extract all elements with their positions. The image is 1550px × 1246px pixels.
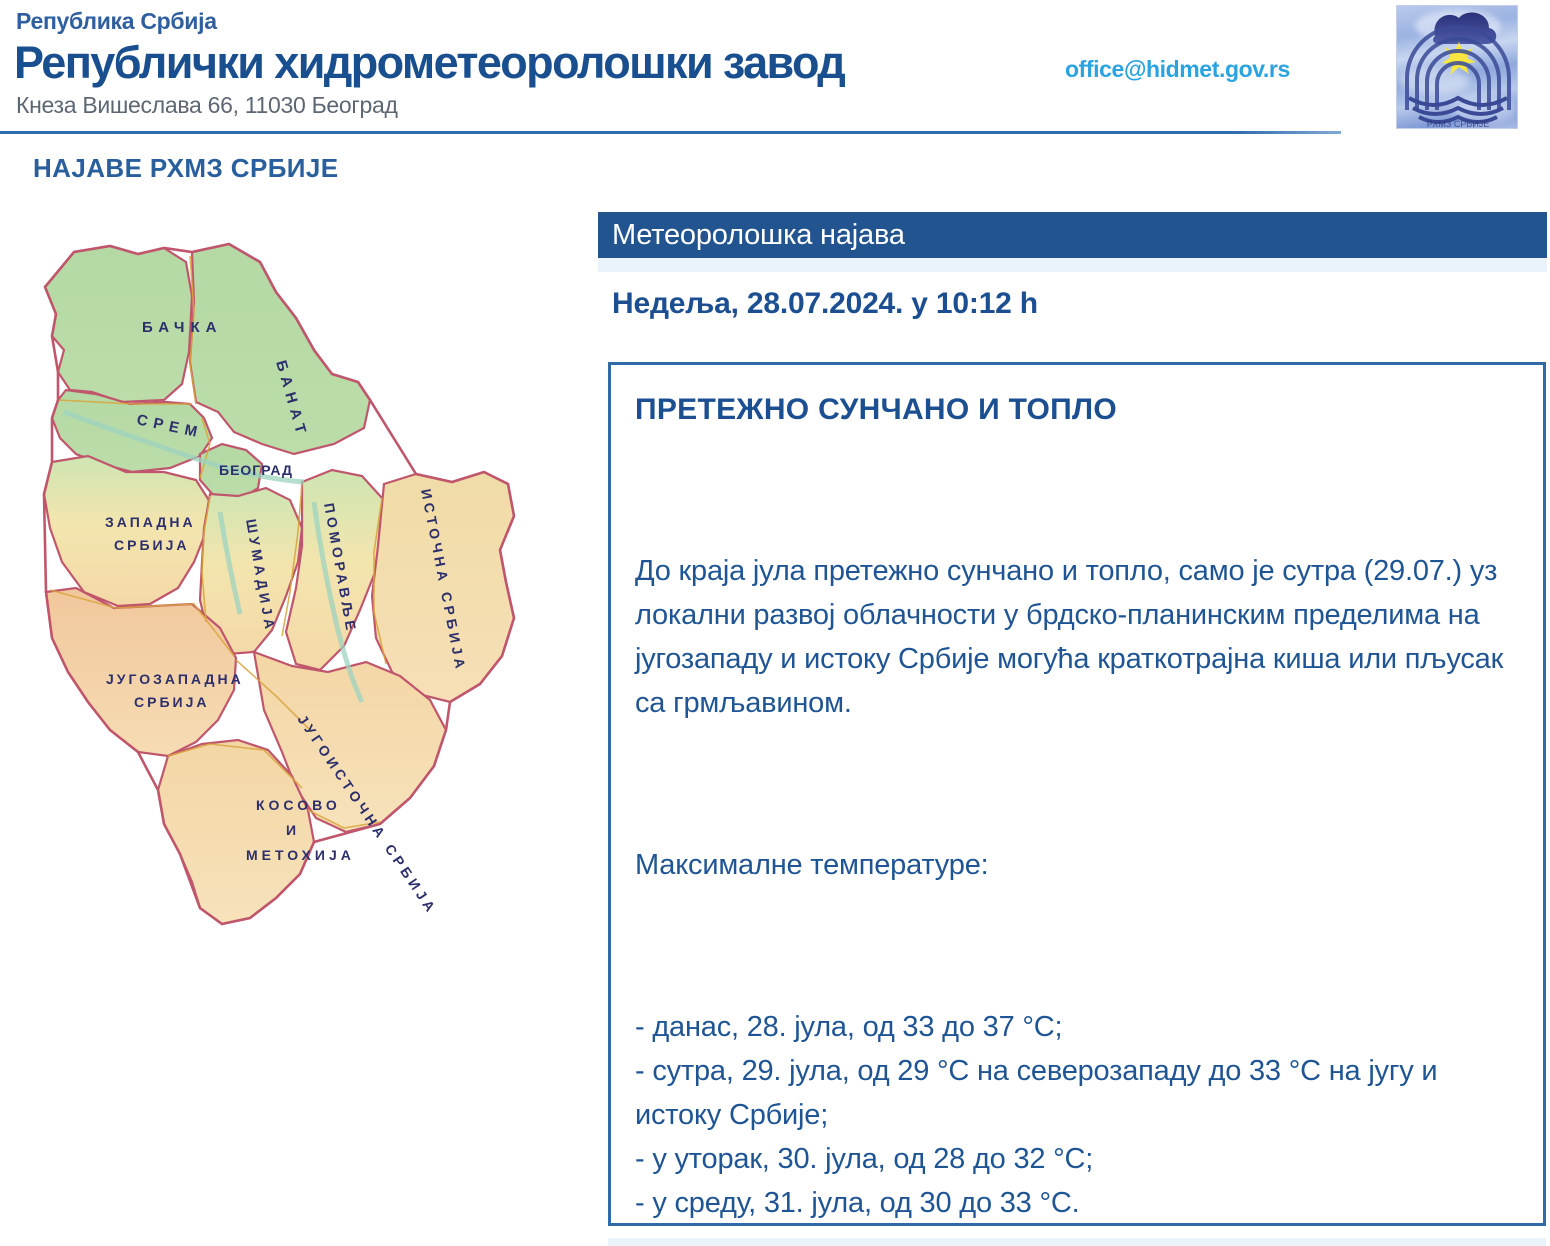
header-country: Република Србија xyxy=(16,8,217,35)
forecast-temps-heading: Максималне температуре: xyxy=(635,843,1525,887)
bar-underline-strip xyxy=(598,258,1547,272)
map-label-14: МЕТОХИЈА xyxy=(246,847,355,863)
header-email-link[interactable]: office@hidmet.gov.rs xyxy=(1065,56,1290,83)
logo-sun-icon xyxy=(1442,42,1476,75)
footer-strip xyxy=(608,1238,1546,1246)
forecast-temps-list: - данас, 28. јула, од 33 до 37 °C; - сут… xyxy=(635,1005,1525,1225)
header-address: Кнеза Вишеслава 66, 11030 Београд xyxy=(16,92,398,119)
page-root: Република Србија Републички хидрометеоро… xyxy=(0,0,1550,1246)
forecast-headline: ПРЕТЕЖНО СУНЧАНО И ТОПЛО xyxy=(635,393,1117,427)
serbia-regions-map[interactable]: БАЧКАБАНАТСРЕМБЕОГРАДЗАПАДНАСРБИЈАШУМАДИ… xyxy=(14,232,584,992)
meteo-announcement-bar: Метеоролошка најава xyxy=(598,212,1547,258)
logo-wordmark: РХМЗ СРБИЈЕ xyxy=(1427,119,1489,129)
map-label-12: КОСОВО xyxy=(256,797,341,813)
forecast-content-box: ПРЕТЕЖНО СУНЧАНО И ТОПЛО До краја јула п… xyxy=(608,362,1546,1226)
map-label-10: СРБИЈА xyxy=(134,694,209,710)
map-label-9: ЈУГОЗАПАДНА xyxy=(106,671,244,687)
logo-emblem-svg: РХМЗ СРБИЈЕ xyxy=(1397,6,1518,129)
region-banat xyxy=(190,244,370,454)
header-divider xyxy=(0,131,1341,134)
forecast-paragraph-1: До краја јула претежно сунчано и топло, … xyxy=(635,549,1525,725)
forecast-body: До краја јула претежно сунчано и топло, … xyxy=(635,461,1525,1246)
rhmz-logo-icon: РХМЗ СРБИЈЕ xyxy=(1396,5,1518,129)
region-zapadna-srbija xyxy=(44,456,210,606)
header-institute-title: Републички хидрометеоролошки завод xyxy=(14,37,844,89)
map-svg: БАЧКАБАНАТСРЕМБЕОГРАДЗАПАДНАСРБИЈАШУМАДИ… xyxy=(14,232,584,992)
meteo-announcement-bar-label: Метеоролошка најава xyxy=(612,219,905,252)
map-label-3: БЕОГРАД xyxy=(219,462,293,478)
map-label-4: ЗАПАДНА xyxy=(105,514,196,530)
map-label-13: И xyxy=(286,822,300,838)
announcement-datestamp: Недеља, 28.07.2024. у 10:12 h xyxy=(612,287,1038,321)
map-label-5: СРБИЈА xyxy=(114,537,189,553)
page-title: НАЈАВЕ РХМЗ СРБИЈЕ xyxy=(33,153,339,184)
map-label-0: БАЧКА xyxy=(142,319,222,336)
